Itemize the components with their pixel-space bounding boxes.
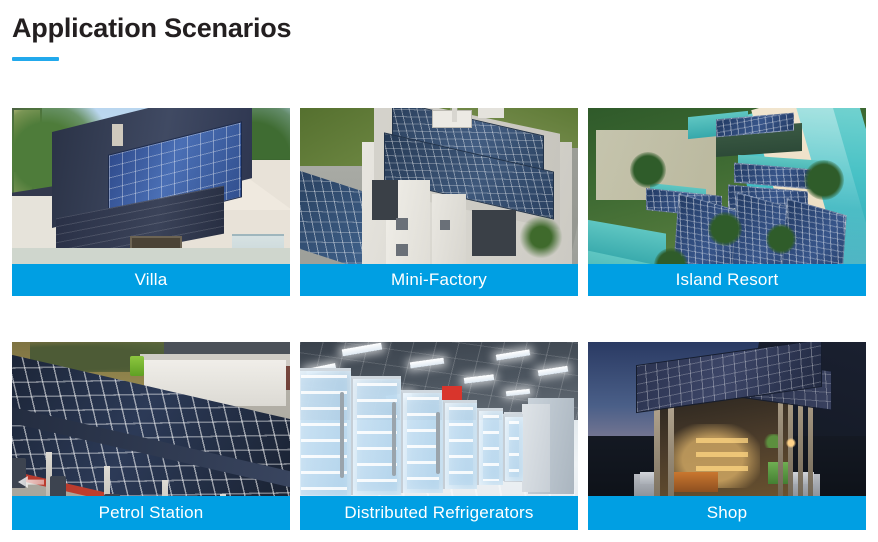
scenario-card-mini-factory[interactable]: Mini-Factory [300,108,578,296]
aisle-pillar [522,404,550,492]
facade-window-small-2 [396,244,408,256]
card-label-island-resort: Island Resort [588,264,866,296]
card-label-villa: Villa [12,264,290,296]
refrigerator-interior-glow [509,421,519,477]
promo-tag [442,386,462,400]
timber-slat-1 [778,400,783,500]
produce-shelf-3 [696,466,748,471]
refrigerator-5 [476,408,503,485]
produce-shelf-1 [696,438,748,443]
facade-window-lower [472,210,516,256]
refrigerator-handle-3 [436,412,440,474]
refrigerator-handle-2 [392,402,396,476]
scenario-card-petrol-station[interactable]: Petrol Station [12,342,290,530]
refrigerator-6 [502,414,523,481]
scenario-card-distributed-refrigerators[interactable]: Distributed Refrigerators [300,342,578,530]
card-label-shop: Shop [588,496,866,530]
scenario-card-villa[interactable]: Villa [12,108,290,296]
pendant-lamp [786,438,796,448]
timber-slat-3 [798,400,803,500]
refrigerator-interior-glow [449,407,473,485]
scenario-card-shop[interactable]: Shop [588,342,866,530]
timber-slat-4 [808,400,813,500]
page-title: Application Scenarios [12,14,291,44]
roof-stack [452,108,457,122]
refrigerator-interior-glow [407,397,439,489]
vegetation-1 [708,212,742,246]
facade-window-small-3 [440,220,450,230]
produce-crates [674,472,718,492]
vegetation-2 [766,224,796,254]
refrigerator-handle-1 [340,392,344,478]
facade-window-large [372,180,398,220]
card-label-mini-factory: Mini-Factory [300,264,578,296]
timber-post-2 [668,396,674,500]
hvac-unit-secondary [478,108,504,118]
palm-tree [518,214,564,260]
vegetation-4 [630,152,666,188]
facade-window-small-1 [396,218,408,230]
chimney [112,124,123,146]
card-label-petrol-station: Petrol Station [12,496,290,530]
timber-slat-2 [788,400,793,500]
refrigerator-4 [442,400,477,489]
vegetation-3 [804,160,844,200]
application-scenarios-page: Application Scenarios [0,0,878,542]
refrigerator-interior-glow [483,415,499,481]
lawn-strip [12,248,290,264]
card-label-distributed-refrigerators: Distributed Refrigerators [300,496,578,530]
refrigerator-interior-glow [357,383,397,491]
scenario-card-island-resort[interactable]: Island Resort [588,108,866,296]
price-sign [130,356,144,376]
scenario-card-grid: Villa [12,108,866,530]
section-header: Application Scenarios [12,14,291,61]
title-accent-rule [12,57,59,61]
produce-shelf-2 [696,452,748,457]
